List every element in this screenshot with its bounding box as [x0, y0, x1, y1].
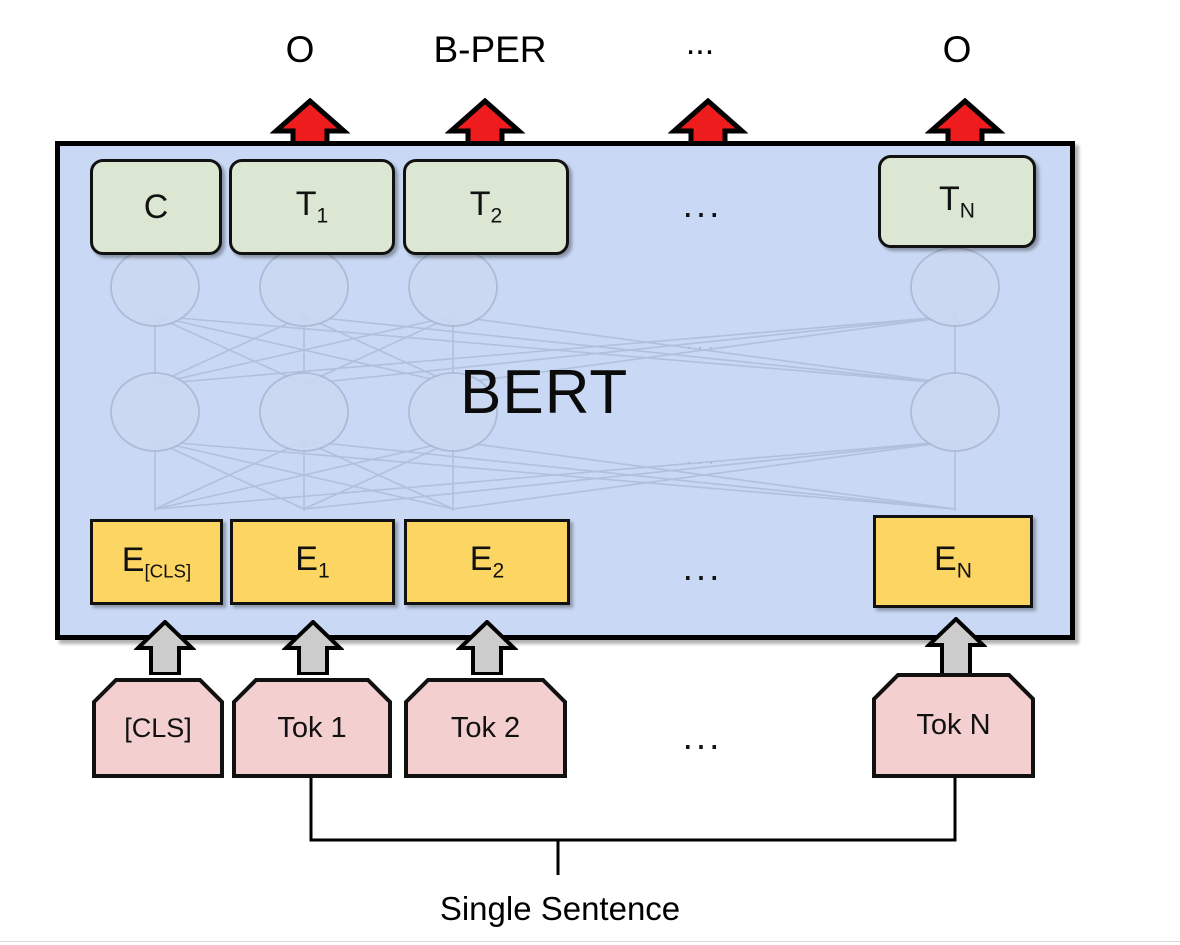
bottom-divider	[0, 941, 1180, 942]
single-sentence-caption: Single Sentence	[390, 890, 730, 928]
bert-architecture-diagram: O B-PER ... O	[0, 0, 1180, 945]
single-sentence-bracket	[0, 0, 1180, 945]
